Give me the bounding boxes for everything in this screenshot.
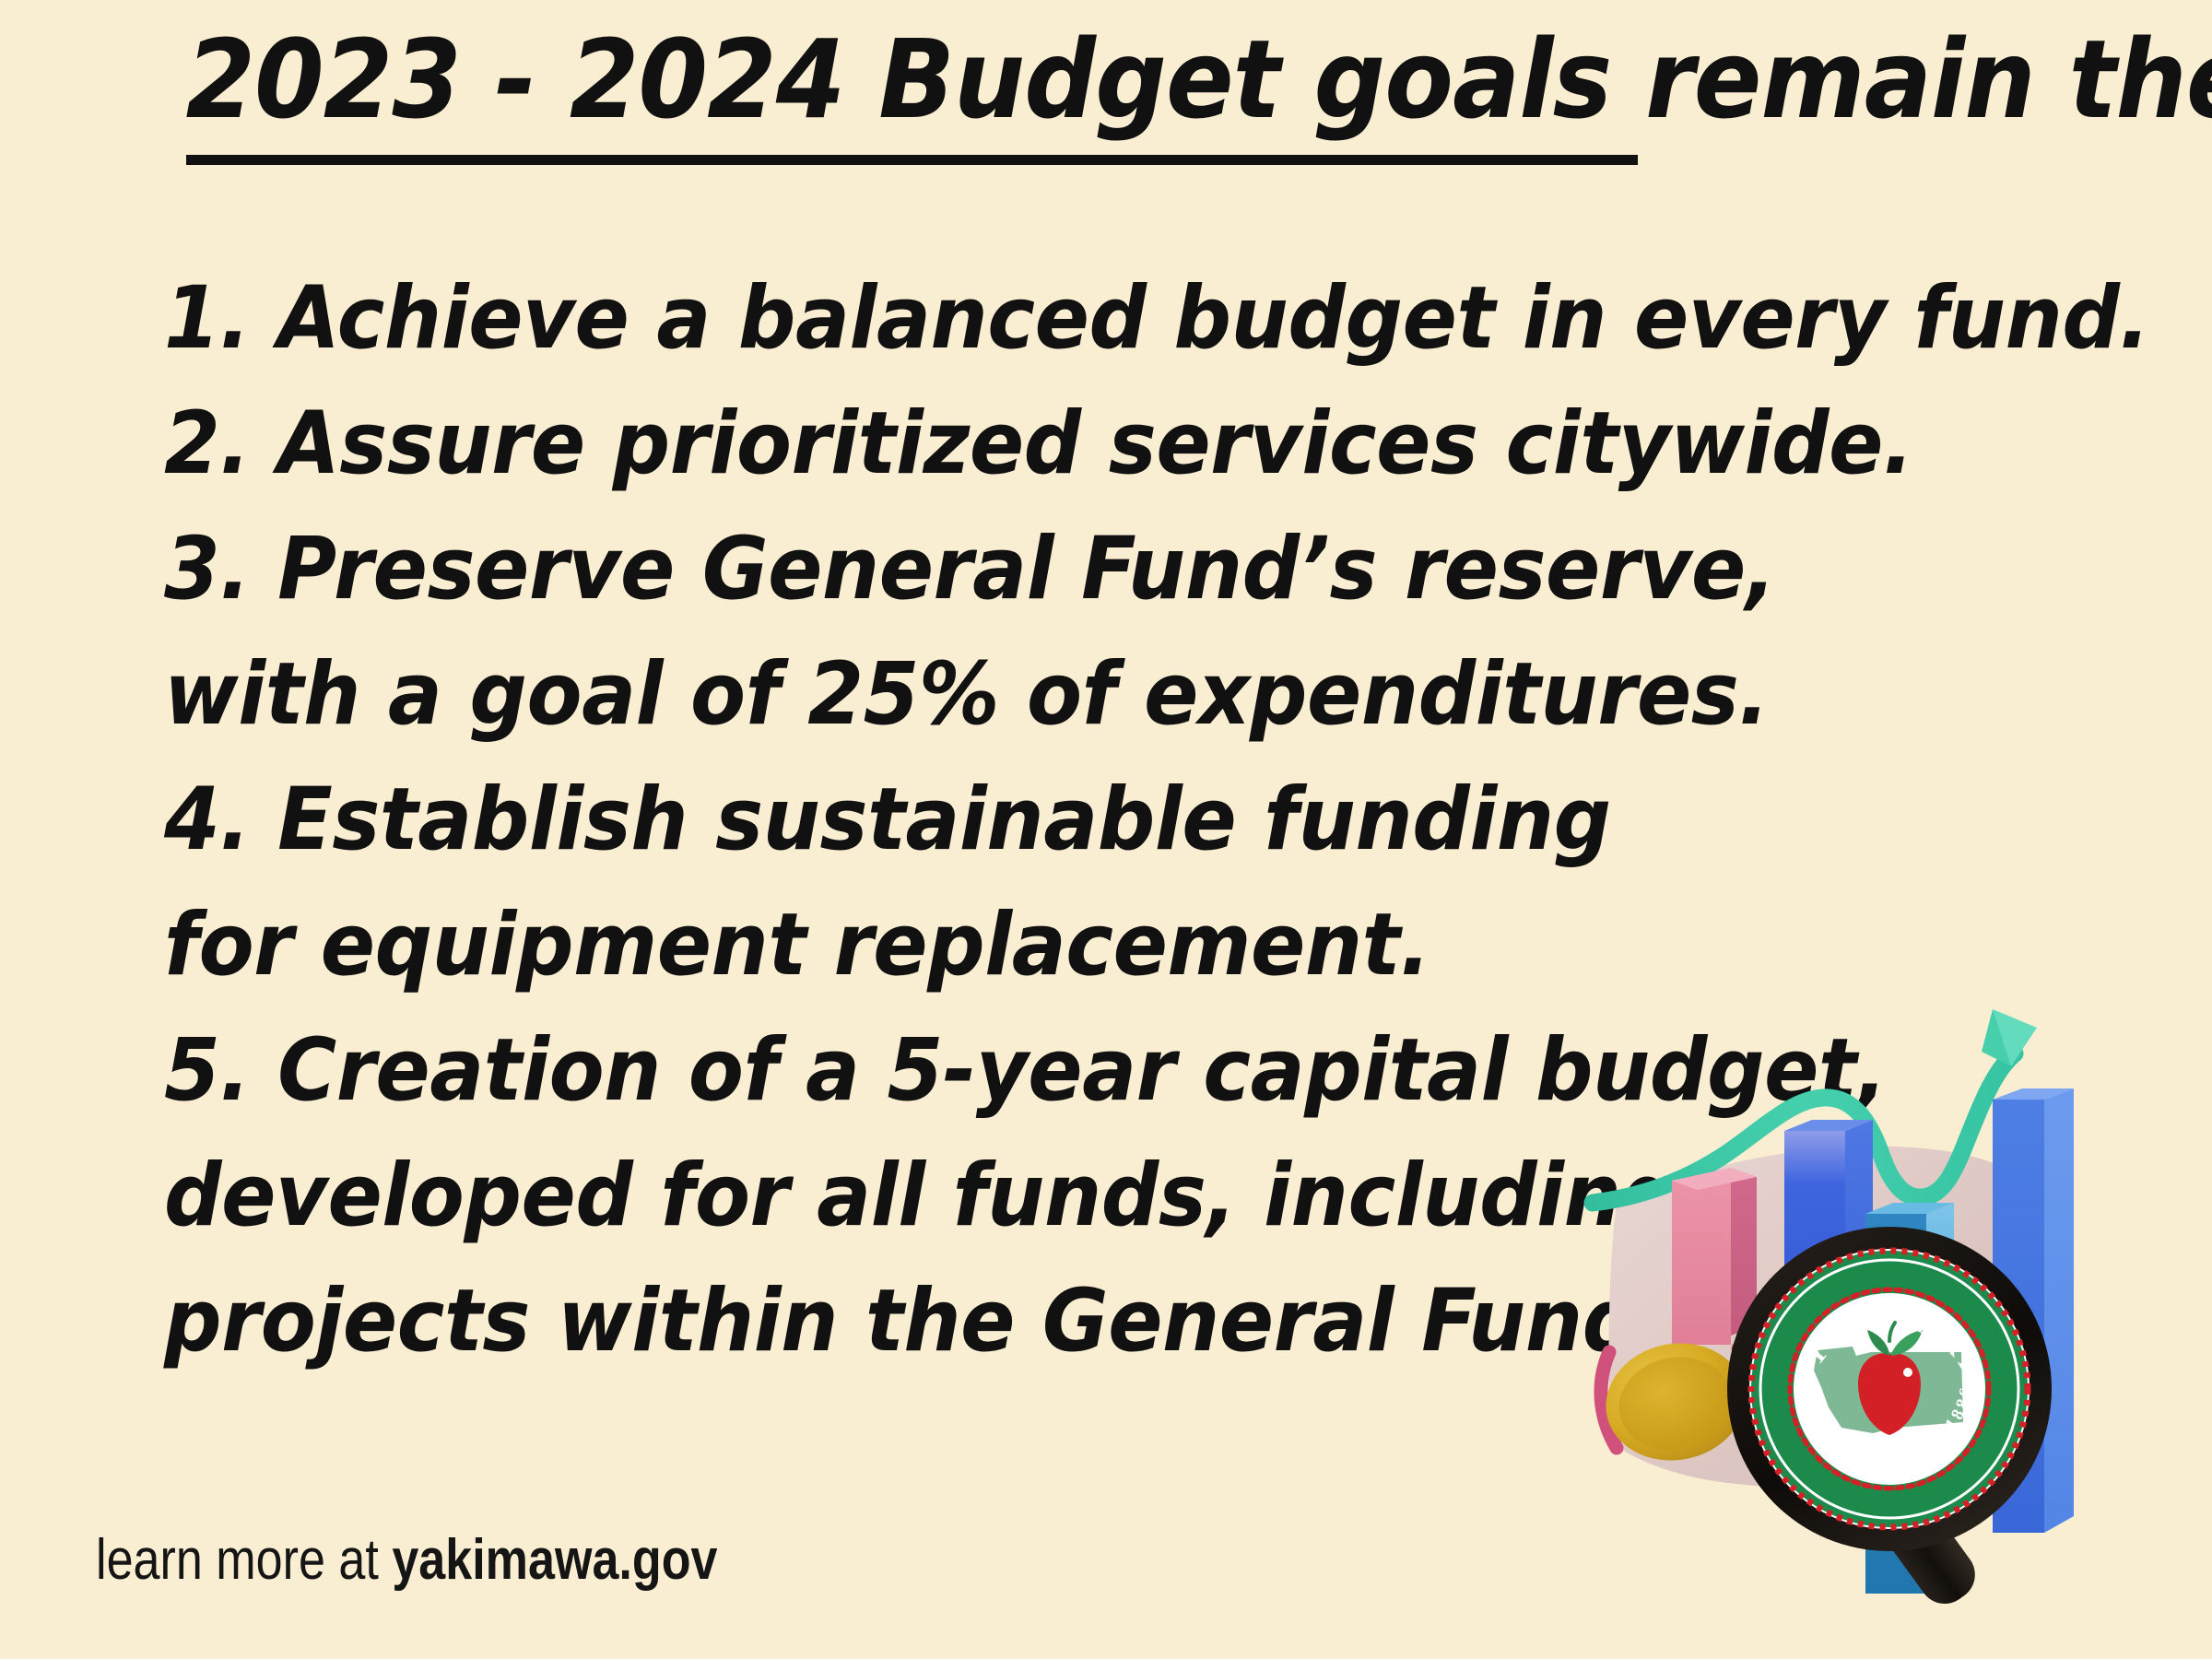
list-item: 2. Assure prioritized services citywide. bbox=[164, 382, 1621, 507]
page-title: 2023 - 2024 Budget goals remain the same… bbox=[181, 18, 1932, 175]
slide-canvas: 2023 - 2024 Budget goals remain the same… bbox=[0, 0, 2212, 1659]
budget-analysis-illustration: CITY OF YAKIMA INCORPORATED 1886 bbox=[1576, 1000, 2212, 1659]
list-item-continuation: with a goal of 25% of expenditures. bbox=[164, 632, 1621, 758]
list-item: 5. Creation of a 5-year capital budget, bbox=[164, 1008, 1621, 1134]
list-item-continuation: developed for all funds, including bbox=[164, 1134, 1621, 1259]
footer-prefix-label: learn more at bbox=[96, 1528, 392, 1592]
title-underline-rule bbox=[186, 155, 1638, 165]
list-item: 3. Preserve General Fund’s reserve, bbox=[164, 507, 1621, 632]
page-title-text: 2023 - 2024 Budget goals remain the same… bbox=[181, 18, 1792, 140]
list-item: 1. Achieve a balanced budget in every fu… bbox=[164, 256, 1621, 382]
list-item: 4. Establish sustainable funding bbox=[164, 758, 1621, 883]
footer-learn-more: learn more at yakimawa.gov bbox=[96, 1528, 717, 1593]
budget-goals-list: 1. Achieve a balanced budget in every fu… bbox=[164, 256, 1731, 1384]
footer-website-link[interactable]: yakimawa.gov bbox=[392, 1528, 717, 1592]
list-item-continuation: projects within the General Fund. bbox=[164, 1259, 1621, 1384]
list-item-continuation: for equipment replacement. bbox=[164, 883, 1621, 1008]
